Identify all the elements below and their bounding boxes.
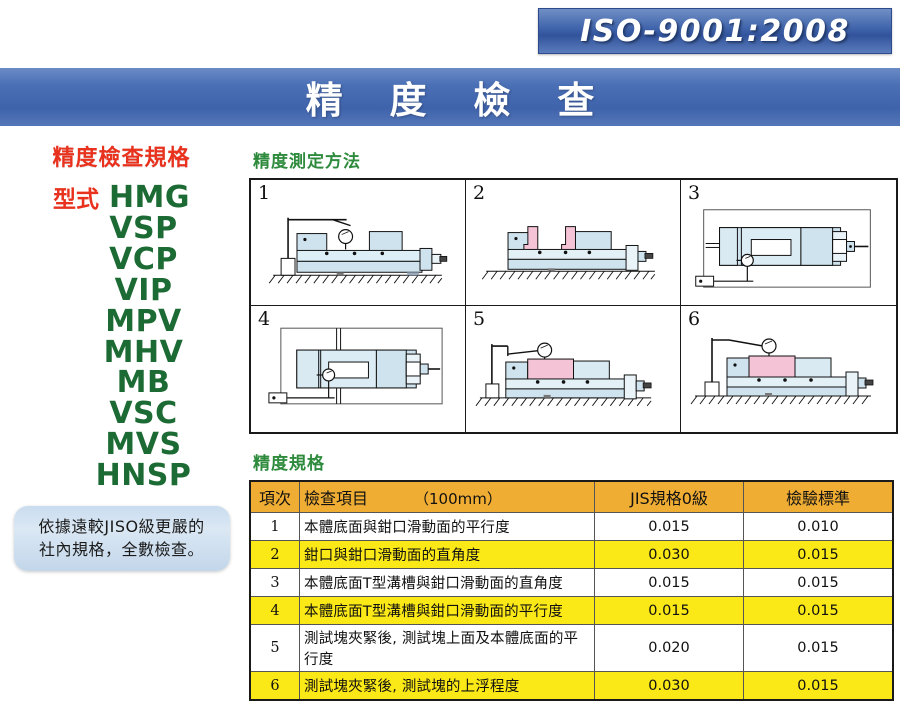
- row-4-no: 4: [250, 597, 300, 625]
- method-cell-3: 3: [681, 180, 896, 306]
- col-header-no: 項次: [250, 481, 300, 513]
- row-2-item: 鉗口與鉗口滑動面的直角度: [300, 541, 595, 569]
- sidebar-note-line-1: 依據遠較JISO級更嚴的: [24, 515, 220, 538]
- model-list: VSP VCP VIP MPV MHV MB VSC MVS HNSP: [0, 214, 243, 492]
- row-1-standard: 0.010: [744, 513, 894, 541]
- row-1-jis: 0.015: [595, 513, 744, 541]
- row-5-no: 5: [250, 625, 300, 672]
- col-header-unit: （100mm）: [368, 490, 502, 508]
- table-row: 3 本體底面T型溝槽與鉗口滑動面的直角度 0.015 0.015: [250, 569, 893, 597]
- model-item-2: VCP: [0, 245, 243, 276]
- row-4-jis: 0.015: [595, 597, 744, 625]
- model-item-9: HNSP: [0, 461, 243, 492]
- col-header-standard: 檢驗標準: [744, 481, 894, 513]
- vise-side-view-with-pink-test-block-gauge-on-top-icon: [681, 306, 896, 432]
- table-row: 1 本體底面與鉗口滑動面的平行度 0.015 0.010: [250, 513, 893, 541]
- model-item-7: VSC: [0, 399, 243, 430]
- model-item-5: MHV: [0, 338, 243, 369]
- spec-table-heading: 精度規格: [253, 449, 900, 474]
- row-5-jis: 0.020: [595, 625, 744, 672]
- row-2-jis: 0.030: [595, 541, 744, 569]
- page-title: 精 度 檢 查: [289, 70, 612, 124]
- model-item-1: VSP: [0, 214, 243, 245]
- row-3-jis: 0.015: [595, 569, 744, 597]
- table-header-row: 項次 檢查項目（100mm） JIS規格0級 檢驗標準: [250, 481, 893, 513]
- method-cell-4: 4: [251, 306, 466, 432]
- vise-side-view-with-dial-gauge-on-stand-icon: [251, 180, 465, 305]
- iso-badge-text: ISO-9001:2008: [580, 14, 850, 49]
- main-content: 精度測定方法 1: [249, 132, 900, 701]
- model-item-8: MVS: [0, 430, 243, 461]
- iso-certification-badge: ISO-9001:2008: [538, 8, 892, 54]
- row-1-item: 本體底面與鉗口滑動面的平行度: [300, 513, 595, 541]
- row-3-item: 本體底面T型溝槽與鉗口滑動面的直角度: [300, 569, 595, 597]
- accuracy-spec-table: 項次 檢查項目（100mm） JIS規格0級 檢驗標準 1 本體底面與鉗口滑動面…: [249, 480, 894, 701]
- sidebar-spec-title: 精度檢查規格: [0, 140, 243, 172]
- row-4-standard: 0.015: [744, 597, 894, 625]
- methods-heading: 精度測定方法: [253, 147, 900, 172]
- row-6-item: 測試塊夾緊後, 測試塊的上浮程度: [300, 672, 595, 701]
- model-type-row: 型式 HMG: [0, 180, 243, 214]
- vise-side-view-with-pink-test-block-and-gauge-icon: [466, 306, 680, 432]
- vise-top-view-with-dial-gauge-icon: [681, 180, 896, 305]
- model-item-0: HMG: [109, 183, 190, 214]
- col-header-item: 檢查項目（100mm）: [300, 481, 595, 513]
- table-row: 5 測試塊夾緊後, 測試塊上面及本體底面的平行度 0.020 0.015: [250, 625, 893, 672]
- row-5-standard: 0.015: [744, 625, 894, 672]
- row-1-no: 1: [250, 513, 300, 541]
- table-row: 6 測試塊夾緊後, 測試塊的上浮程度 0.030 0.015: [250, 672, 893, 701]
- row-5-item: 測試塊夾緊後, 測試塊上面及本體底面的平行度: [300, 625, 595, 672]
- method-cell-6: 6: [681, 306, 896, 432]
- sidebar: 精度檢查規格 型式 HMG VSP VCP VIP MPV MHV MB VSC…: [0, 132, 243, 685]
- row-6-standard: 0.015: [744, 672, 894, 701]
- row-3-standard: 0.015: [744, 569, 894, 597]
- sidebar-note-line-2: 社內規格，全數檢查。: [24, 538, 220, 561]
- sidebar-note-box: 依據遠較JISO級更嚴的 社內規格，全數檢查。: [14, 506, 230, 571]
- col-header-jis: JIS規格0級: [595, 481, 744, 513]
- measurement-method-grid: 1: [249, 178, 898, 434]
- row-3-no: 3: [250, 569, 300, 597]
- row-6-jis: 0.030: [595, 672, 744, 701]
- table-row: 2 鉗口與鉗口滑動面的直角度 0.030 0.015: [250, 541, 893, 569]
- model-item-4: MPV: [0, 307, 243, 338]
- model-type-label: 型式: [53, 180, 99, 214]
- method-cell-5: 5: [466, 306, 681, 432]
- method-cell-2: 2: [466, 180, 681, 306]
- vise-top-view-with-t-slot-and-dial-gauge-icon: [251, 306, 465, 432]
- row-2-standard: 0.015: [744, 541, 894, 569]
- model-item-6: MB: [0, 368, 243, 399]
- row-6-no: 6: [250, 672, 300, 701]
- vise-side-view-with-pink-jaw-blocks-icon: [466, 180, 680, 305]
- col-header-item-label: 檢查項目: [304, 489, 368, 508]
- row-4-item: 本體底面T型溝槽與鉗口滑動面的平行度: [300, 597, 595, 625]
- page-title-band: 精 度 檢 查: [0, 68, 900, 126]
- row-2-no: 2: [250, 541, 300, 569]
- method-cell-1: 1: [251, 180, 466, 306]
- table-row: 4 本體底面T型溝槽與鉗口滑動面的平行度 0.015 0.015: [250, 597, 893, 625]
- model-item-3: VIP: [0, 276, 243, 307]
